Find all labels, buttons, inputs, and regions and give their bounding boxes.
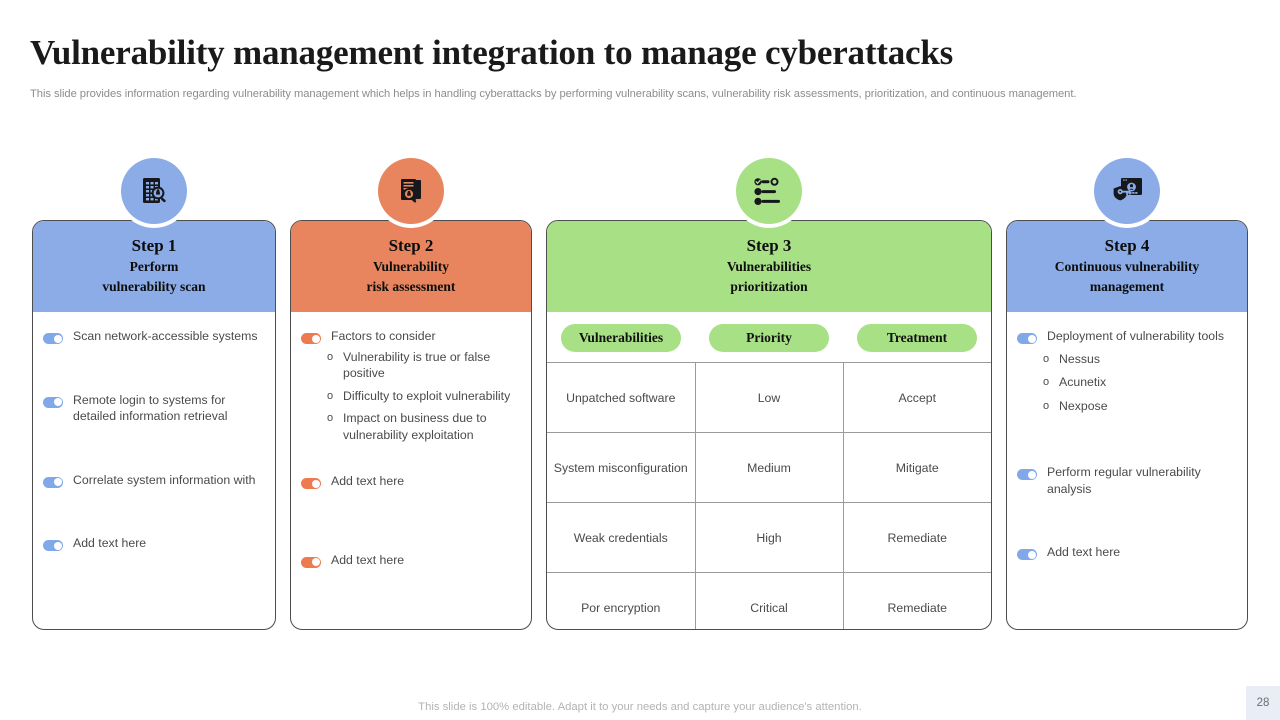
- slide-root: Vulnerability management integration to …: [0, 0, 1280, 720]
- list-item[interactable]: Add text here: [301, 552, 521, 569]
- step-subtitle-4-line2: management: [1013, 277, 1241, 296]
- step-card-3: Step 3 Vulnerabilities prioritization Vu…: [546, 220, 992, 630]
- page-title: Vulnerability management integration to …: [30, 33, 953, 73]
- step-card-header-3: Step 3 Vulnerabilities prioritization: [547, 221, 991, 312]
- document-audit-icon: [378, 158, 444, 224]
- server-scan-icon: [121, 158, 187, 224]
- step-subtitle-3-line1: Vulnerabilities: [553, 257, 985, 276]
- list-item[interactable]: Remote login to systems for detailed inf…: [43, 392, 265, 425]
- step-subtitle-2-line1: Vulnerability: [297, 257, 525, 276]
- step-number-4: Step 4: [1013, 235, 1241, 256]
- step-card-header-4: Step 4 Continuous vulnerability manageme…: [1007, 221, 1247, 312]
- circle-bullet-icon: o: [327, 410, 343, 427]
- toggle-icon[interactable]: [301, 333, 321, 344]
- list-item[interactable]: Add text here: [1017, 544, 1237, 561]
- toggle-icon[interactable]: [43, 333, 63, 344]
- list-item-label: Add text here: [73, 535, 146, 552]
- list-item[interactable]: Factors to consider: [301, 328, 521, 345]
- table-cell-vulnerability: Weak credentials: [547, 503, 695, 573]
- toggle-icon[interactable]: [43, 477, 63, 488]
- step-number-1: Step 1: [39, 235, 269, 256]
- step-subtitle-1-line2: vulnerability scan: [39, 277, 269, 296]
- list-item-label: Add text here: [1047, 544, 1120, 561]
- sub-list-item-label: Impact on business due to vulnerability …: [343, 410, 521, 443]
- secure-access-icon: [1094, 158, 1160, 224]
- circle-bullet-icon: o: [1043, 374, 1059, 391]
- table-cell-treatment: Remediate: [843, 573, 991, 631]
- step-subtitle-3-line2: prioritization: [553, 277, 985, 296]
- circle-bullet-icon: o: [327, 349, 343, 366]
- step-number-2: Step 2: [297, 235, 525, 256]
- step-column-4: Step 4 Continuous vulnerability manageme…: [1006, 220, 1248, 630]
- step-column-1: Step 1 Perform vulnerability scan Scan n…: [32, 220, 276, 630]
- step-column-2: Step 2 Vulnerability risk assessment Fac…: [290, 220, 532, 630]
- step-number-3: Step 3: [553, 235, 985, 256]
- table-row: System misconfiguration Medium Mitigate: [547, 433, 991, 503]
- step-card-1: Step 1 Perform vulnerability scan Scan n…: [32, 220, 276, 630]
- table-cell-priority: High: [695, 503, 843, 573]
- step-card-body-4: Deployment of vulnerability tools o Ness…: [1007, 312, 1247, 561]
- table-cell-vulnerability: Unpatched software: [547, 363, 695, 433]
- sub-list-2: o Vulnerability is true or false positiv…: [327, 349, 521, 444]
- table-cell-treatment: Remediate: [843, 503, 991, 573]
- step-column-3: Step 3 Vulnerabilities prioritization Vu…: [546, 220, 992, 630]
- step-subtitle-2-line2: risk assessment: [297, 277, 525, 296]
- footer-note: This slide is 100% editable. Adapt it to…: [0, 701, 1280, 713]
- priority-table: Unpatched software Low Accept System mis…: [547, 362, 991, 630]
- list-item-label: Deployment of vulnerability tools: [1047, 328, 1224, 345]
- table-row: Unpatched software Low Accept: [547, 363, 991, 433]
- sub-list-item-label: Acunetix: [1059, 374, 1106, 391]
- list-item-label: Scan network-accessible systems: [73, 328, 258, 345]
- sub-list-item[interactable]: o Acunetix: [1043, 374, 1237, 391]
- list-item[interactable]: Add text here: [301, 473, 521, 490]
- sub-list-item[interactable]: o Impact on business due to vulnerabilit…: [327, 410, 521, 443]
- table-cell-treatment: Mitigate: [843, 433, 991, 503]
- list-item[interactable]: Correlate system information with: [43, 472, 265, 489]
- table-row: Por encryption Critical Remediate: [547, 573, 991, 631]
- table-cell-priority: Medium: [695, 433, 843, 503]
- step-card-header-1: Step 1 Perform vulnerability scan: [33, 221, 275, 312]
- priority-sliders-icon: [736, 158, 802, 224]
- table-header-treatment: Treatment: [857, 324, 977, 352]
- step-subtitle-4-line1: Continuous vulnerability: [1013, 257, 1241, 276]
- step-card-body-1: Scan network-accessible systems Remote l…: [33, 312, 275, 552]
- table-row: Weak credentials High Remediate: [547, 503, 991, 573]
- list-item-label: Add text here: [331, 473, 404, 490]
- step-subtitle-1-line1: Perform: [39, 257, 269, 276]
- sub-list-item-label: Difficulty to exploit vulnerability: [343, 388, 510, 405]
- list-item[interactable]: Add text here: [43, 535, 265, 552]
- toggle-icon[interactable]: [1017, 549, 1037, 560]
- toggle-icon[interactable]: [301, 478, 321, 489]
- list-item[interactable]: Scan network-accessible systems: [43, 328, 265, 345]
- priority-table-header-pills: Vulnerabilities Priority Treatment: [547, 312, 991, 362]
- list-item-label: Perform regular vulnerability analysis: [1047, 464, 1237, 497]
- table-cell-priority: Critical: [695, 573, 843, 631]
- sub-list-item-label: Nessus: [1059, 351, 1100, 368]
- list-item-label: Add text here: [331, 552, 404, 569]
- list-item-label: Correlate system information with: [73, 472, 255, 489]
- step-card-header-2: Step 2 Vulnerability risk assessment: [291, 221, 531, 312]
- table-cell-treatment: Accept: [843, 363, 991, 433]
- list-item[interactable]: Deployment of vulnerability tools: [1017, 328, 1237, 345]
- toggle-icon[interactable]: [1017, 469, 1037, 480]
- table-cell-priority: Low: [695, 363, 843, 433]
- step-card-body-2: Factors to consider o Vulnerability is t…: [291, 312, 531, 568]
- circle-bullet-icon: o: [327, 388, 343, 405]
- table-cell-vulnerability: System misconfiguration: [547, 433, 695, 503]
- sub-list-item-label: Vulnerability is true or false positive: [343, 349, 521, 382]
- sub-list-item[interactable]: o Nexpose: [1043, 398, 1237, 415]
- sub-list-item[interactable]: o Vulnerability is true or false positiv…: [327, 349, 521, 382]
- list-item-label: Remote login to systems for detailed inf…: [73, 392, 265, 425]
- step-card-4: Step 4 Continuous vulnerability manageme…: [1006, 220, 1248, 630]
- page-number-badge: 28: [1246, 686, 1280, 720]
- page-subtitle: This slide provides information regardin…: [30, 88, 1076, 100]
- list-item-label: Factors to consider: [331, 328, 436, 345]
- sub-list-item-label: Nexpose: [1059, 398, 1108, 415]
- sub-list-item[interactable]: o Difficulty to exploit vulnerability: [327, 388, 521, 405]
- table-header-priority: Priority: [709, 324, 829, 352]
- table-cell-vulnerability: Por encryption: [547, 573, 695, 631]
- step-card-2: Step 2 Vulnerability risk assessment Fac…: [290, 220, 532, 630]
- circle-bullet-icon: o: [1043, 398, 1059, 415]
- toggle-icon[interactable]: [1017, 333, 1037, 344]
- toggle-icon[interactable]: [43, 540, 63, 551]
- sub-list-item[interactable]: o Nessus: [1043, 351, 1237, 368]
- toggle-icon[interactable]: [301, 557, 321, 568]
- circle-bullet-icon: o: [1043, 351, 1059, 368]
- list-item[interactable]: Perform regular vulnerability analysis: [1017, 464, 1237, 497]
- sub-list-4: o Nessus o Acunetix o Nexpose: [1043, 351, 1237, 415]
- toggle-icon[interactable]: [43, 397, 63, 408]
- table-header-vulnerabilities: Vulnerabilities: [561, 324, 681, 352]
